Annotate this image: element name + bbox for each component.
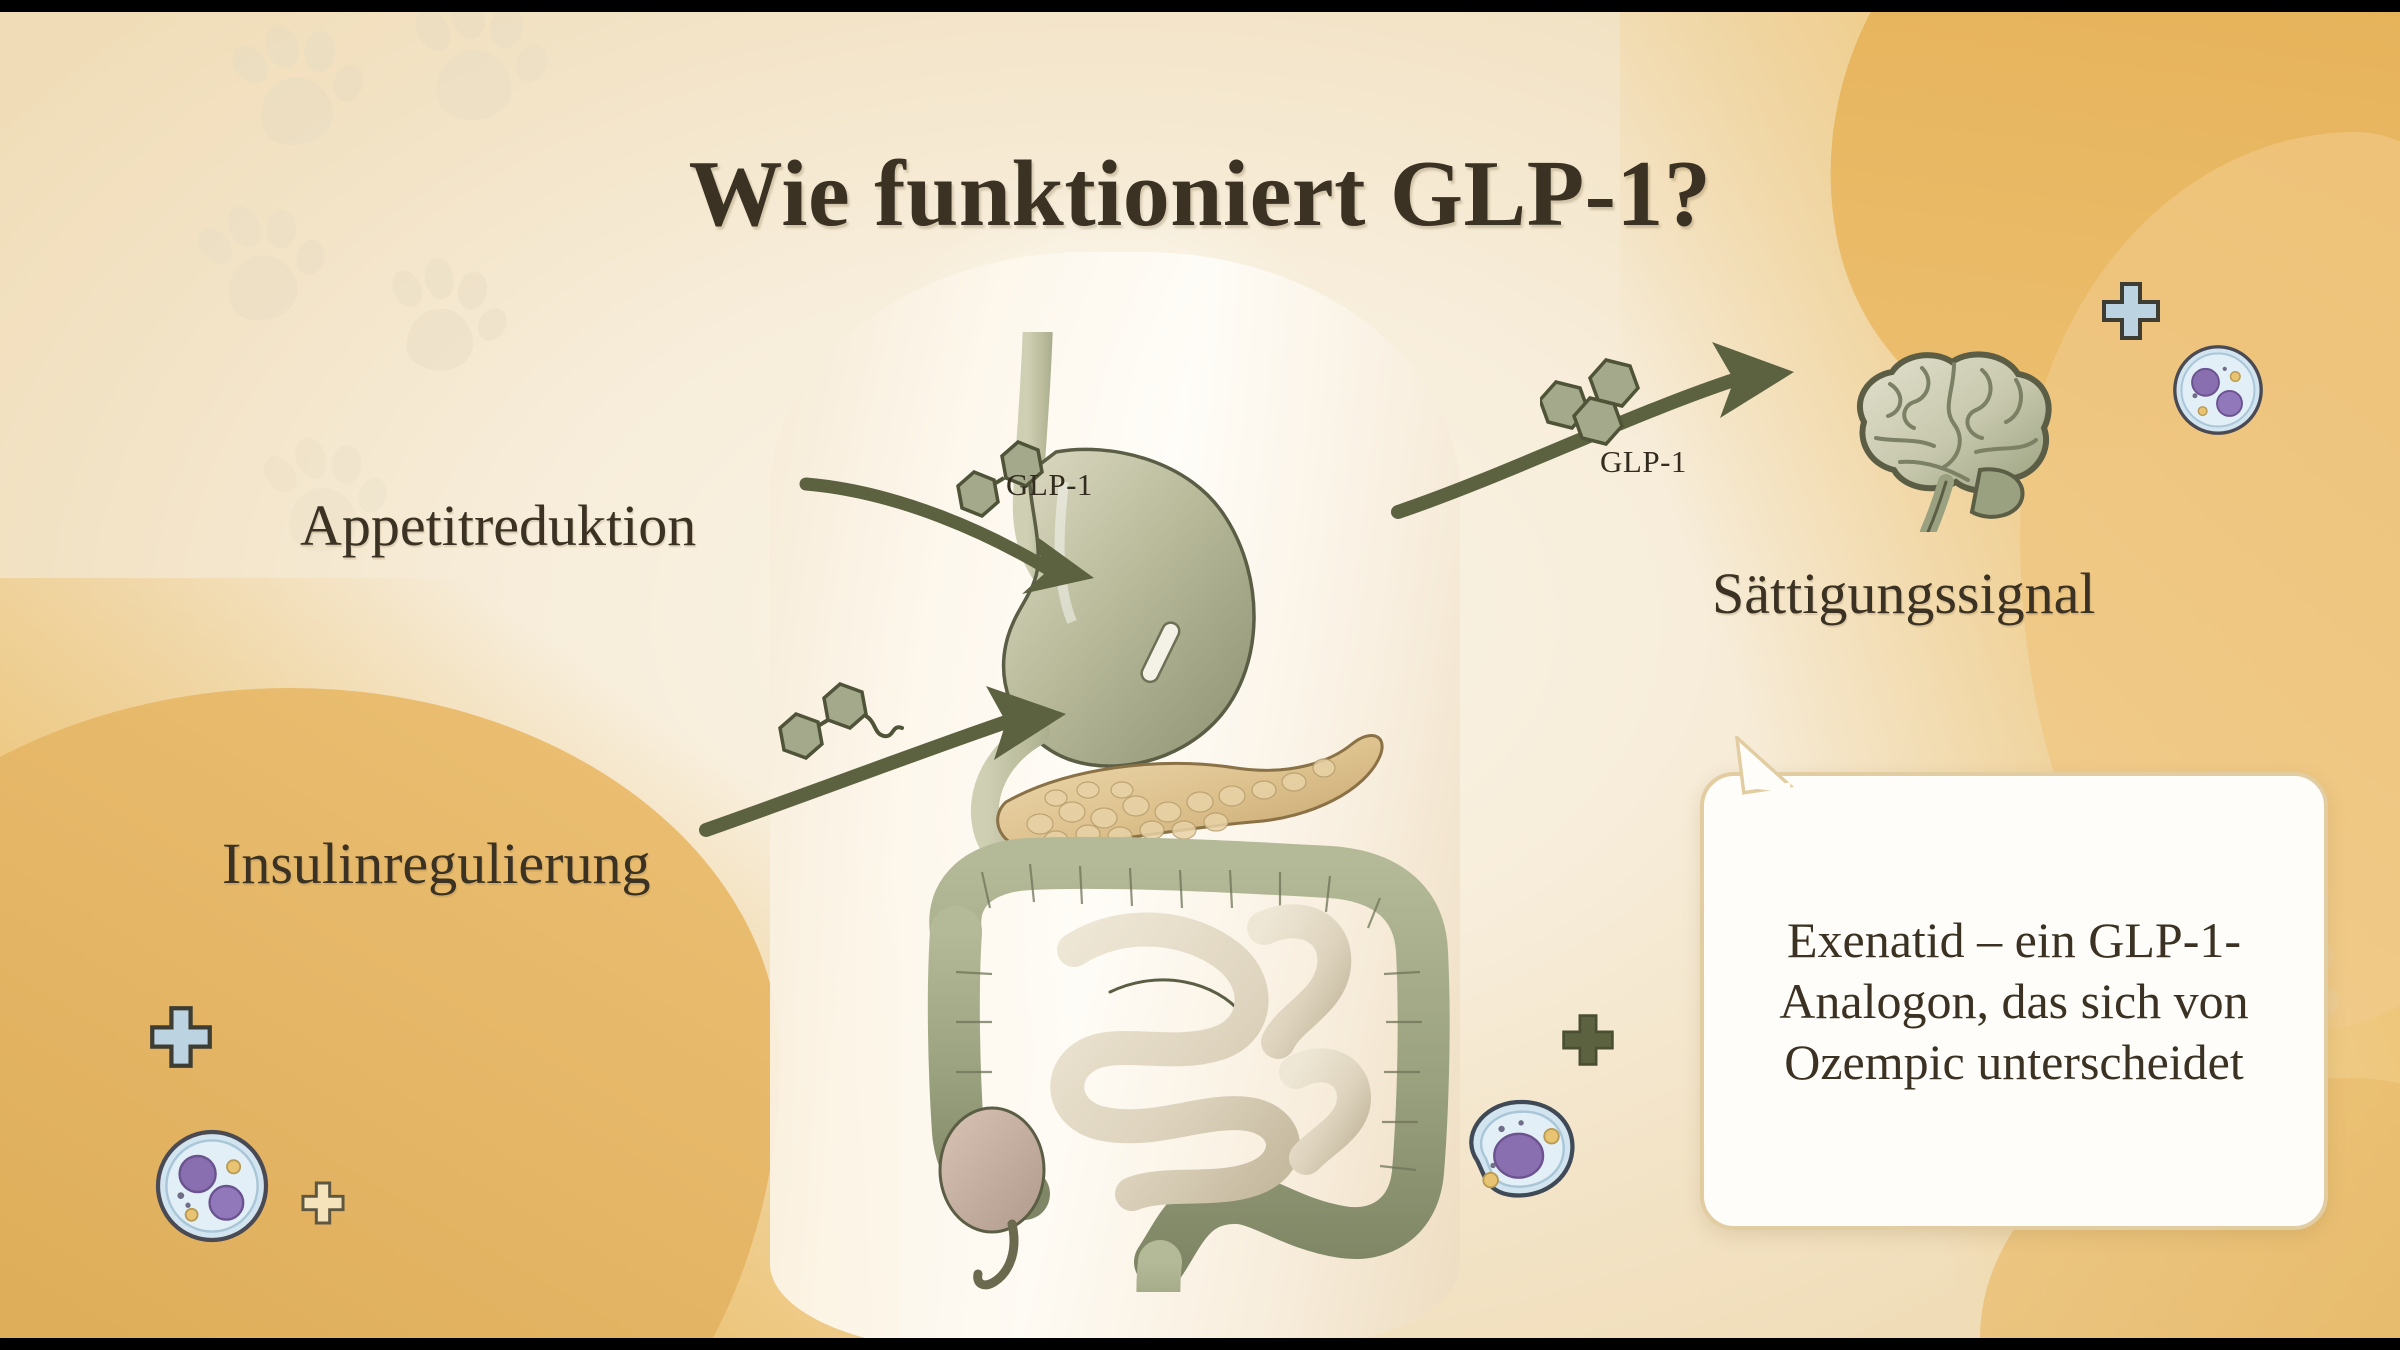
cell-icon: [1448, 1084, 1582, 1208]
speech-bubble-text: Exenatid – ein GLP-1-Analogon, das sich …: [1704, 910, 2324, 1093]
glp1-molecule-icon: [778, 680, 928, 790]
glp1-label-brain: GLP-1: [1600, 444, 1687, 480]
medical-cross-icon: [1560, 1012, 1616, 1068]
label-appetite-reduction: Appetitreduktion: [300, 492, 696, 559]
letterbox-bar-top: [0, 0, 2400, 12]
cell-icon: [152, 1126, 272, 1246]
cell-icon: [2170, 342, 2266, 438]
page-title: Wie funktioniert GLP-1?: [0, 140, 2400, 248]
label-satiety-signal: Sättigungssignal: [1712, 560, 2095, 627]
letterbox-bar-bottom: [0, 1338, 2400, 1350]
glp1-molecule-icon: [1540, 356, 1670, 446]
speech-bubble-tail: [1726, 736, 1796, 822]
glp1-label-stomach: GLP-1: [1006, 467, 1093, 503]
label-insulin-regulation: Insulinregulierung: [222, 830, 650, 897]
infographic-canvas: Wie funktioniert GLP-1? Appetitreduktion…: [0, 0, 2400, 1350]
brain-icon: [1830, 342, 2080, 532]
medical-cross-icon: [300, 1180, 346, 1226]
medical-cross-icon: [2100, 280, 2162, 342]
background: Wie funktioniert GLP-1? Appetitreduktion…: [0, 12, 2400, 1338]
speech-bubble: Exenatid – ein GLP-1-Analogon, das sich …: [1700, 772, 2328, 1230]
medical-cross-icon: [148, 1004, 214, 1070]
